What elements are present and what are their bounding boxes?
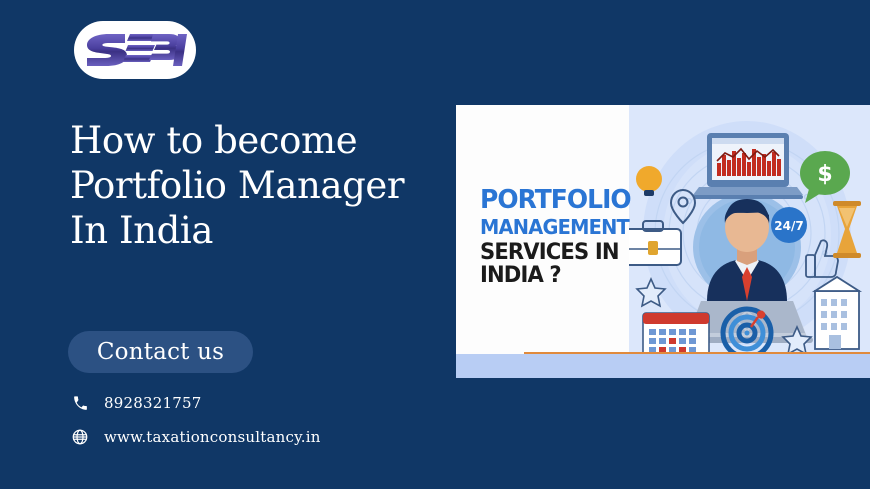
promo-title-line-4: INDIA ?	[480, 265, 631, 287]
sebi-logo-mark	[83, 30, 187, 70]
promo-card-title: PORTFOLIO MANAGEMENT SERVICES IN INDIA ?	[480, 187, 637, 287]
promo-title-line-2: MANAGEMENT	[480, 217, 632, 237]
promo-title-line-3: SERVICES IN	[480, 242, 631, 264]
calendar-icon	[643, 313, 709, 354]
phone-contact-row[interactable]: 8928321757	[70, 393, 201, 413]
headline-line-3: In India	[70, 208, 440, 253]
website-contact-row[interactable]: www.taxationconsultancy.in	[70, 427, 321, 447]
contact-us-button[interactable]: Contact us	[68, 331, 253, 373]
headline-line-1: How to become	[70, 118, 440, 163]
office-building-icon	[815, 277, 859, 349]
contact-us-label: Contact us	[97, 339, 224, 365]
svg-text:$: $	[817, 162, 832, 187]
headline-line-2: Portfolio Manager	[70, 163, 440, 208]
phone-number: 8928321757	[104, 394, 201, 412]
businessman-laptop-illustration: 24/7 $	[629, 105, 870, 354]
card-bottom-strip	[456, 354, 870, 378]
website-url: www.taxationconsultancy.in	[104, 428, 321, 446]
promo-card[interactable]: PORTFOLIO MANAGEMENT SERVICES IN INDIA ?	[456, 105, 870, 378]
target-dart-icon	[723, 309, 771, 354]
phone-icon	[70, 393, 90, 413]
page-title: How to become Portfolio Manager In India	[70, 118, 440, 253]
promo-title-line-1: PORTFOLIO	[480, 187, 631, 213]
svg-text:24/7: 24/7	[774, 219, 803, 233]
laptop-chart-icon	[693, 133, 803, 199]
globe-icon	[70, 427, 90, 447]
badge-24-7: 24/7	[771, 207, 807, 243]
sebi-logo[interactable]	[74, 21, 196, 79]
